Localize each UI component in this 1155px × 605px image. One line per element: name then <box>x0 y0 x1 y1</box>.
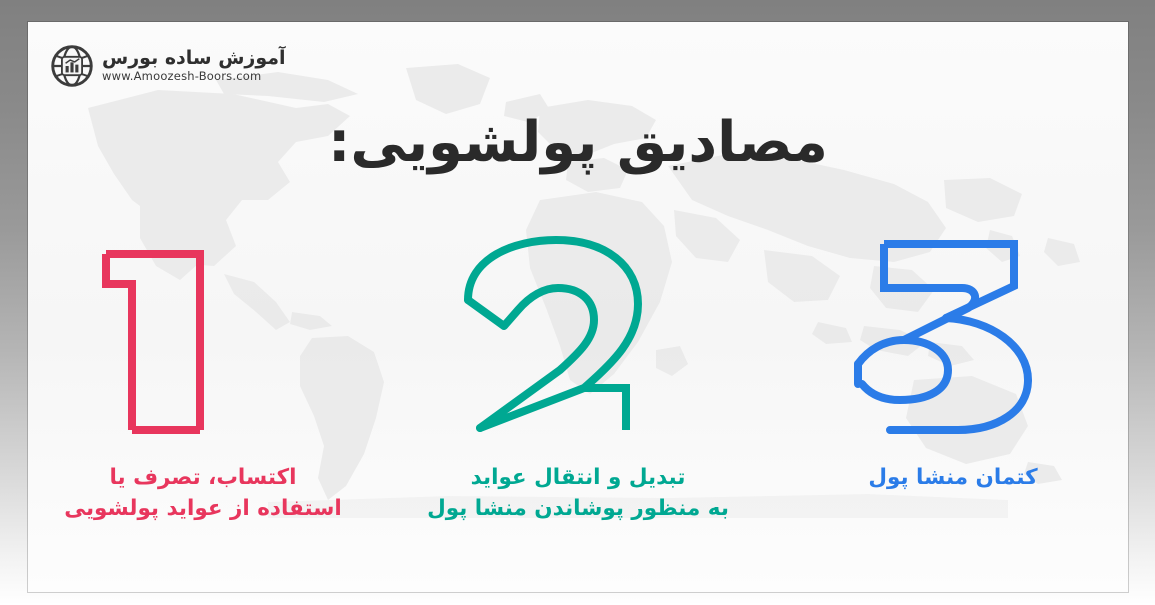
poster-canvas: آموزش ساده بورس www.Amoozesh-Boors.com م… <box>28 22 1128 592</box>
step-caption-3: کتمان منشا پول <box>788 462 1118 493</box>
steps-stage: اکتساب، تصرف یا استفاده از عواید پولشویی… <box>28 222 1128 522</box>
site-logo[interactable]: آموزش ساده بورس www.Amoozesh-Boors.com <box>50 44 286 88</box>
step-caption-1: اکتساب، تصرف یا استفاده از عواید پولشویی <box>38 462 368 524</box>
numeral-two <box>468 240 638 430</box>
numeral-three <box>858 244 1028 430</box>
step-numerals-group <box>28 222 1128 442</box>
numeral-one <box>106 254 200 430</box>
globe-chart-icon <box>50 44 94 88</box>
page-title: مصادیق پولشویی: <box>28 110 1128 175</box>
poster-frame: آموزش ساده بورس www.Amoozesh-Boors.com م… <box>0 0 1155 605</box>
logo-brand-text: آموزش ساده بورس <box>102 49 286 68</box>
step-caption-2: تبدیل و انتقال عواید به منظور پوشاندن من… <box>413 462 743 524</box>
logo-url-text: www.Amoozesh-Boors.com <box>102 71 286 83</box>
